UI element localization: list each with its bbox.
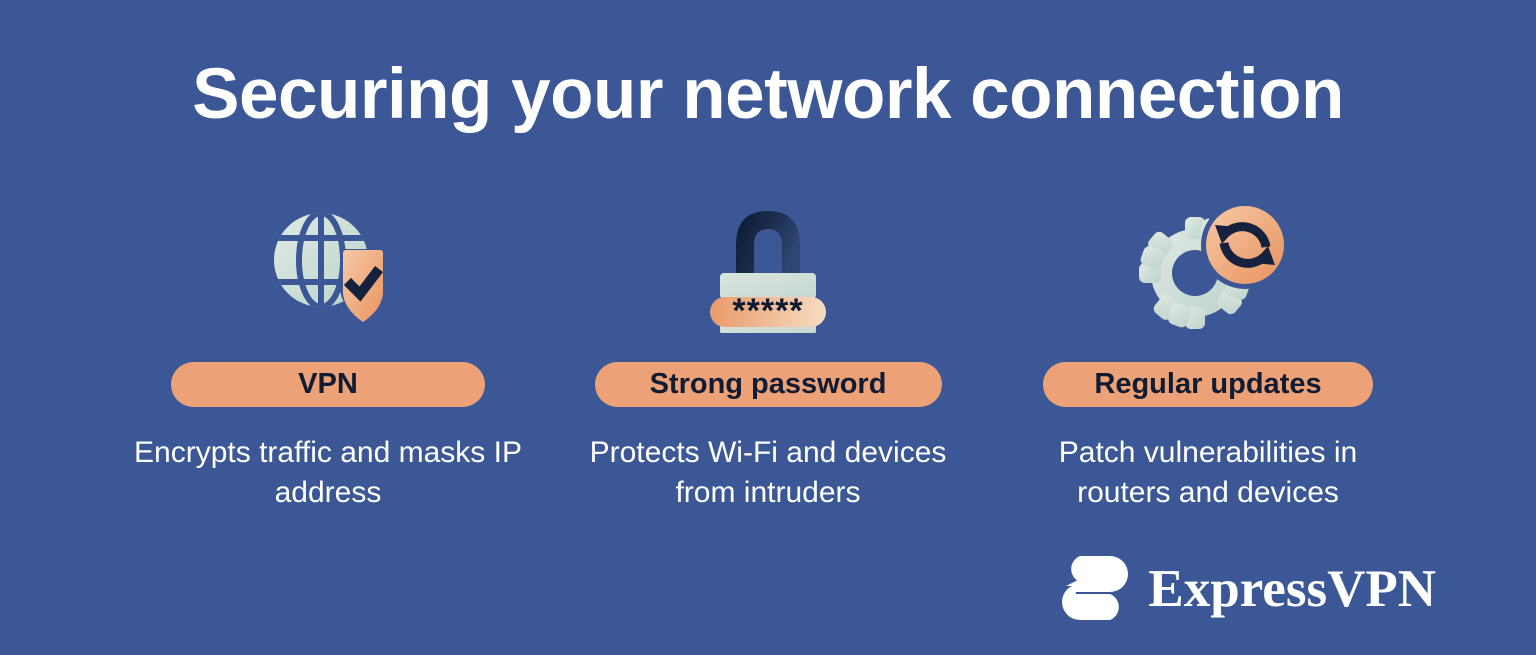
feature-columns: VPN Encrypts traffic and masks IP addres… <box>118 196 1418 513</box>
pill-label-vpn: VPN <box>171 362 485 407</box>
feature-description-password: Protects Wi-Fi and devices from intruder… <box>568 433 968 513</box>
feature-column-password: ***** Strong password Protects Wi-Fi and… <box>558 196 978 513</box>
page-title: Securing your network connection <box>0 58 1536 133</box>
feature-description-vpn: Encrypts traffic and masks IP address <box>128 433 528 513</box>
gear-refresh-icon <box>1131 196 1285 338</box>
infographic-poster: Securing your network connection <box>0 0 1536 655</box>
expressvpn-wordmark: ExpressVPN <box>1148 563 1436 616</box>
expressvpn-e-mark-icon <box>1060 554 1130 625</box>
expressvpn-logo: ExpressVPN <box>1060 554 1436 625</box>
feature-description-updates: Patch vulnerabilities in routers and dev… <box>1008 433 1408 513</box>
pill-label-password: Strong password <box>595 362 942 407</box>
globe-shield-check-icon <box>266 196 390 338</box>
password-mask-text: ***** <box>732 292 803 330</box>
pill-label-updates: Regular updates <box>1043 362 1373 407</box>
padlock-password-icon: ***** <box>700 196 836 338</box>
feature-column-vpn: VPN Encrypts traffic and masks IP addres… <box>118 196 538 513</box>
feature-column-updates: Regular updates Patch vulnerabilities in… <box>998 196 1418 513</box>
